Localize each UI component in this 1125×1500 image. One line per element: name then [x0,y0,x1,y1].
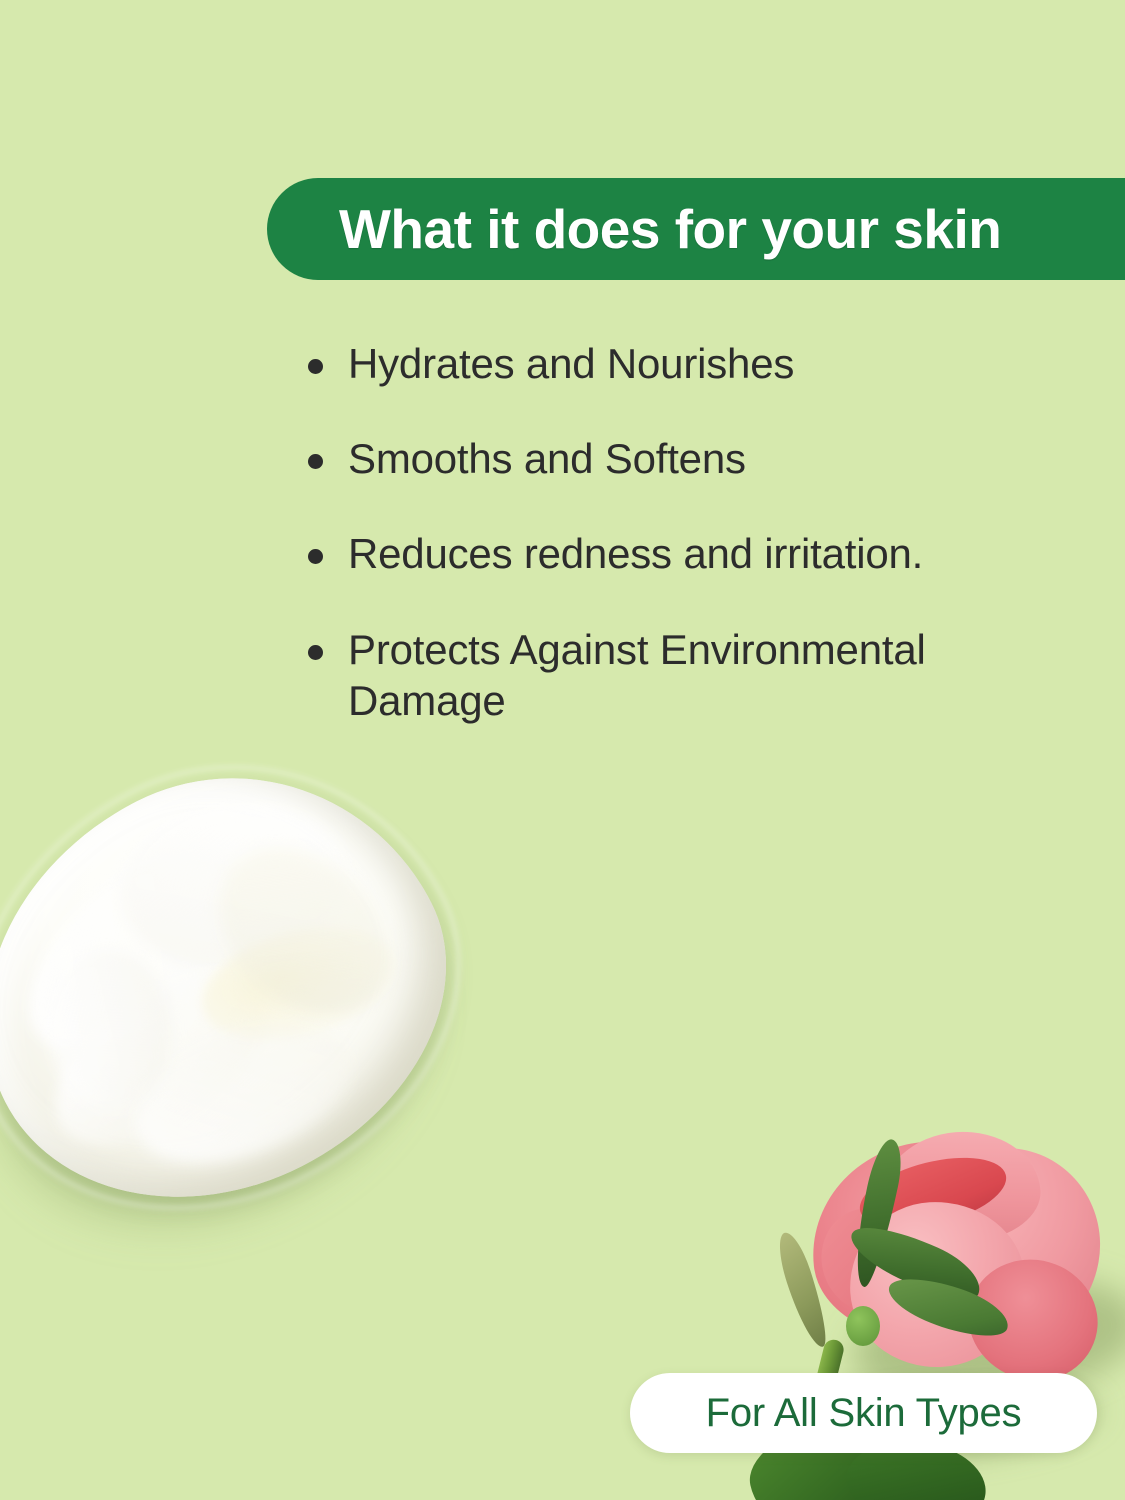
benefit-text: Reduces redness and irritation. [348,530,923,577]
list-item: Protects Against Environmental Damage [300,624,1020,726]
bullet-icon [308,645,323,660]
benefit-text: Smooths and Softens [348,435,746,482]
benefit-text: Protects Against Environmental Damage [348,626,926,724]
header-banner: What it does for your skin [267,178,1125,280]
bullet-icon [308,454,323,469]
list-item: Smooths and Softens [300,433,1020,484]
page-title: What it does for your skin [339,202,1001,257]
list-item: Reduces redness and irritation. [300,528,1020,579]
cream-on-spoon-image [0,770,530,1330]
benefits-list: Hydrates and Nourishes Smooths and Softe… [300,338,1020,726]
rose-bud-base-icon [846,1306,880,1346]
status-badge: For All Skin Types [630,1373,1097,1453]
cream-blob-icon [0,703,511,1273]
product-benefits-poster: What it does for your skin Hydrates and … [0,0,1125,1500]
benefit-text: Hydrates and Nourishes [348,340,794,387]
skin-badge-label: For All Skin Types [706,1391,1022,1436]
bullet-icon [308,549,323,564]
list-item: Hydrates and Nourishes [300,338,1020,389]
bullet-icon [308,359,323,374]
